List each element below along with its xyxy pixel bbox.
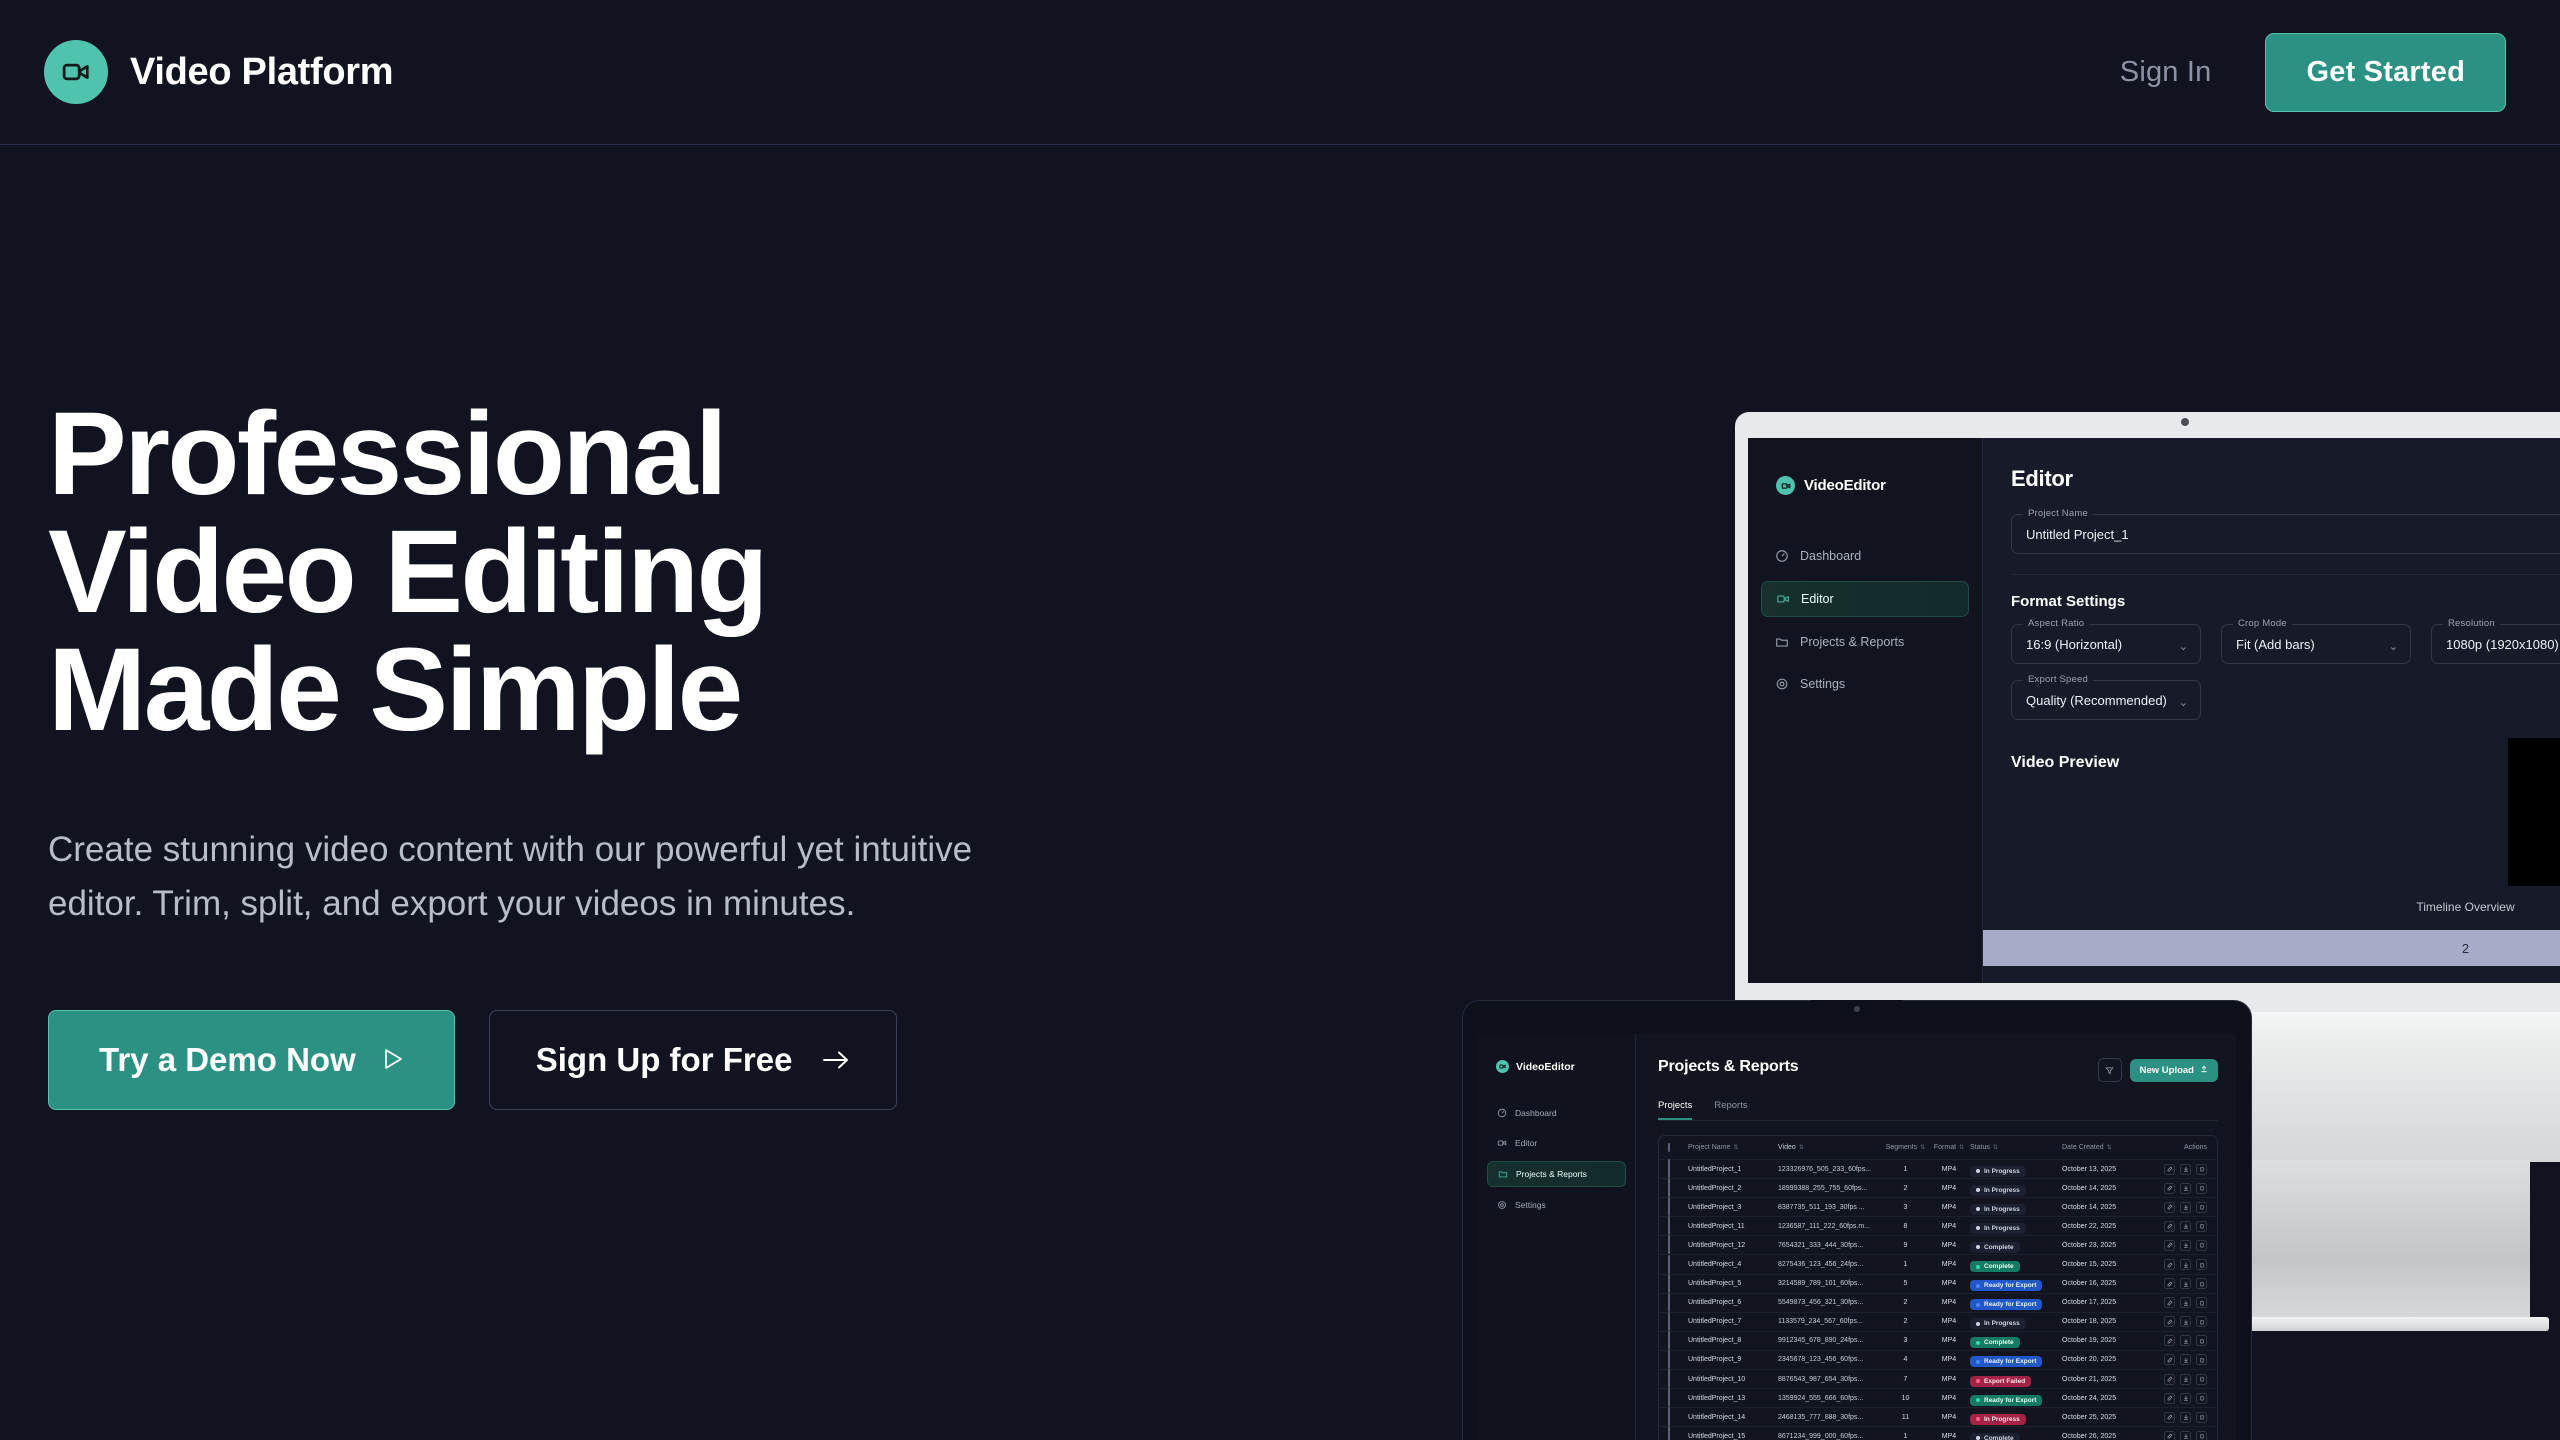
video-camera-icon [1776, 592, 1790, 606]
gear-icon [1775, 677, 1789, 691]
cell-format: MP4 [1928, 1166, 1970, 1173]
cell-segments: 2 [1883, 1299, 1928, 1306]
aspect-ratio-label: Aspect Ratio [2023, 618, 2089, 629]
cell-actions [2147, 1412, 2207, 1423]
cell-project-name: UntitledProject_3 [1688, 1204, 1778, 1211]
cell-actions [2147, 1297, 2207, 1308]
cell-status: Export Failed [1970, 1370, 2062, 1388]
status-badge: In Progress [1970, 1204, 2026, 1215]
resolution-select[interactable]: Resolution 1080p (1920x1080) ⌄ [2431, 624, 2560, 664]
delete-icon[interactable] [2196, 1335, 2207, 1346]
sign-in-link[interactable]: Sign In [2120, 56, 2212, 89]
delete-icon[interactable] [2196, 1183, 2207, 1194]
cell-segments: 9 [1883, 1242, 1928, 1249]
cell-segments: 11 [1883, 1414, 1928, 1421]
edit-icon[interactable] [2164, 1354, 2175, 1365]
cell-date-created: October 26, 2025 [2062, 1433, 2147, 1440]
select-all-checkbox[interactable] [1668, 1144, 1688, 1151]
cell-status: In Progress [1970, 1217, 2062, 1235]
cell-project-name: UntitledProject_10 [1688, 1376, 1778, 1383]
cell-segments: 3 [1883, 1204, 1928, 1211]
cell-project-name: UntitledProject_13 [1688, 1395, 1778, 1402]
status-badge: In Progress [1970, 1414, 2026, 1425]
crop-mode-label: Crop Mode [2233, 618, 2292, 629]
status-badge: Export Failed [1970, 1376, 2031, 1387]
sidebar-item-dashboard[interactable]: Dashboard [1761, 539, 1969, 573]
sort-icon: ⇅ [1799, 1144, 1804, 1151]
hero-subtitle-line-1: Create stunning video content with our p… [48, 823, 1108, 877]
laptop-camera-icon [1854, 1006, 1860, 1012]
editor-topbar: Editor Save Exp [1983, 438, 2560, 492]
cell-video: 2468135_777_888_30fps... [1778, 1414, 1883, 1421]
cell-format: MP4 [1928, 1376, 1970, 1383]
cell-video: 2345678_123_456_60fps... [1778, 1356, 1883, 1363]
row-checkbox[interactable] [1668, 1408, 1688, 1426]
edit-icon[interactable] [2164, 1316, 2175, 1327]
delete-icon[interactable] [2196, 1202, 2207, 1213]
edit-icon[interactable] [2164, 1259, 2175, 1270]
desktop-monitor-mockup: VideoEditor Dashboard Editor Projects & … [1735, 412, 2560, 1012]
site-header: Video Platform Sign In Get Started [0, 0, 2560, 145]
chevron-down-icon: ⌄ [2389, 640, 2398, 653]
video-camera-icon [1776, 476, 1795, 495]
cell-date-created: October 24, 2025 [2062, 1395, 2147, 1402]
row-checkbox[interactable] [1668, 1294, 1688, 1312]
status-badge: In Progress [1970, 1318, 2026, 1329]
hero-title-line-2: Video Editing [48, 513, 1108, 631]
cell-date-created: October 21, 2025 [2062, 1376, 2147, 1383]
cell-segments: 2 [1883, 1318, 1928, 1325]
row-checkbox[interactable] [1668, 1217, 1688, 1235]
status-badge: In Progress [1970, 1223, 2026, 1234]
laptop-header-actions: New Upload [2098, 1058, 2218, 1082]
gauge-icon [1497, 1108, 1507, 1118]
hero-title-line-3: Made Simple [48, 631, 1108, 749]
new-upload-label: New Upload [2140, 1065, 2194, 1076]
download-icon[interactable] [2180, 1202, 2191, 1213]
chevron-down-icon: ⌄ [2179, 640, 2188, 653]
hero-cta-row: Try a Demo Now Sign Up for Free [48, 1010, 1108, 1110]
folder-icon [1775, 635, 1789, 649]
funnel-icon[interactable] [2098, 1058, 2122, 1082]
aspect-ratio-value: 16:9 (Horizontal) [2026, 637, 2122, 652]
cell-date-created: October 19, 2025 [2062, 1337, 2147, 1344]
edit-icon[interactable] [2164, 1374, 2175, 1385]
download-icon[interactable] [2180, 1354, 2191, 1365]
sidebar-item-label: Projects & Reports [1800, 635, 1904, 649]
cell-date-created: October 13, 2025 [2062, 1166, 2147, 1173]
cell-project-name: UntitledProject_4 [1688, 1261, 1778, 1268]
row-checkbox[interactable] [1668, 1351, 1688, 1369]
cell-status: In Progress [1970, 1160, 2062, 1178]
sidebar-item-label: Dashboard [1800, 549, 1861, 563]
laptop-nav: Dashboard Editor Projects & Reports Sett… [1478, 1101, 1635, 1217]
delete-icon[interactable] [2196, 1240, 2207, 1251]
table-row[interactable]: UntitledProject_53214589_789_101_60fps..… [1659, 1275, 2217, 1294]
editor-page-title: Editor [2011, 466, 2073, 492]
cell-project-name: UntitledProject_5 [1688, 1280, 1778, 1287]
cell-segments: 7 [1883, 1376, 1928, 1383]
row-checkbox[interactable] [1668, 1160, 1688, 1178]
cell-date-created: October 23, 2025 [2062, 1242, 2147, 1249]
status-badge: Complete [1970, 1242, 2020, 1253]
cell-segments: 10 [1883, 1395, 1928, 1402]
crop-mode-select[interactable]: Crop Mode Fit (Add bars) ⌄ [2221, 624, 2411, 664]
arrow-right-icon [822, 1041, 850, 1079]
sidebar-item-label: Dashboard [1515, 1108, 1557, 1118]
sidebar-item-label: Settings [1800, 677, 1845, 691]
sidebar-item-label: Editor [1801, 592, 1834, 606]
cell-date-created: October 22, 2025 [2062, 1223, 2147, 1230]
crop-mode-value: Fit (Add bars) [2236, 637, 2315, 652]
cell-actions [2147, 1335, 2207, 1346]
table-row[interactable]: UntitledProject_108876543_987_654_30fps.… [1659, 1370, 2217, 1389]
format-settings-title: Format Settings [2011, 593, 2560, 610]
sign-up-free-button[interactable]: Sign Up for Free [489, 1010, 898, 1110]
format-settings-row-1: Aspect Ratio 16:9 (Horizontal) ⌄ Crop Mo… [2011, 624, 2560, 664]
download-icon[interactable] [2180, 1278, 2191, 1289]
column-header-project-name[interactable]: Project Name⇅ [1688, 1144, 1778, 1151]
hero-subtitle-line-2: editor. Trim, split, and export your vid… [48, 877, 1108, 931]
row-checkbox[interactable] [1668, 1275, 1688, 1293]
table-row[interactable]: UntitledProject_158671234_999_000_60fps.… [1659, 1427, 2217, 1440]
download-icon[interactable] [2180, 1412, 2191, 1423]
tab-projects[interactable]: Projects [1658, 1100, 1692, 1120]
cell-format: MP4 [1928, 1280, 1970, 1287]
play-triangle-icon [382, 1041, 404, 1079]
cell-status: Ready for Export [1970, 1389, 2062, 1407]
edit-icon[interactable] [2164, 1202, 2175, 1213]
edit-icon[interactable] [2164, 1278, 2175, 1289]
sign-up-free-label: Sign Up for Free [536, 1041, 793, 1079]
table-row[interactable]: UntitledProject_38387735_511_193_30fps .… [1659, 1198, 2217, 1217]
cell-format: MP4 [1928, 1356, 1970, 1363]
export-speed-select[interactable]: Export Speed Quality (Recommended) ⌄ [2011, 680, 2201, 720]
delete-icon[interactable] [2196, 1393, 2207, 1404]
cell-status: Complete [1970, 1332, 2062, 1350]
cell-actions [2147, 1431, 2207, 1440]
column-header-format[interactable]: Format⇅ [1928, 1144, 1970, 1151]
editor-brand-name: VideoEditor [1804, 477, 1886, 494]
upload-icon [2200, 1065, 2208, 1076]
video-camera-icon [1496, 1060, 1509, 1073]
edit-icon[interactable] [2164, 1221, 2175, 1232]
delete-icon[interactable] [2196, 1278, 2207, 1289]
column-header-status[interactable]: Status⇅ [1970, 1144, 2062, 1151]
cell-format: MP4 [1928, 1185, 1970, 1192]
edit-icon[interactable] [2164, 1297, 2175, 1308]
resolution-label: Resolution [2443, 618, 2500, 629]
sort-icon: ⇅ [2107, 1144, 2112, 1151]
gauge-icon [1775, 549, 1789, 563]
timeline-bar[interactable]: 2 [1983, 930, 2560, 966]
column-header-date-created[interactable]: Date Created⇅ [2062, 1144, 2147, 1151]
cell-actions [2147, 1183, 2207, 1194]
status-badge: Complete [1970, 1433, 2020, 1440]
row-checkbox[interactable] [1668, 1256, 1688, 1274]
project-name-label: Project Name [2023, 508, 2093, 519]
table-row[interactable]: UntitledProject_89912345_678_890_24fps..… [1659, 1332, 2217, 1351]
cell-video: 3214589_789_101_60fps... [1778, 1280, 1883, 1287]
cell-video: 8671234_999_000_60fps... [1778, 1433, 1883, 1440]
monitor-screen: VideoEditor Dashboard Editor Projects & … [1748, 438, 2560, 983]
divider [2011, 574, 2560, 575]
aspect-ratio-select[interactable]: Aspect Ratio 16:9 (Horizontal) ⌄ [2011, 624, 2201, 664]
cell-segments: 3 [1883, 1337, 1928, 1344]
cell-segments: 2 [1883, 1185, 1928, 1192]
video-preview-title: Video Preview [2011, 754, 2119, 772]
table-row[interactable]: UntitledProject_142468135_777_888_30fps.… [1659, 1408, 2217, 1427]
cell-format: MP4 [1928, 1395, 1970, 1402]
delete-icon[interactable] [2196, 1221, 2207, 1232]
column-header-segments[interactable]: Segments⇅ [1883, 1144, 1928, 1151]
cell-format: MP4 [1928, 1223, 1970, 1230]
status-badge: Complete [1970, 1261, 2020, 1272]
edit-icon[interactable] [2164, 1164, 2175, 1175]
edit-icon[interactable] [2164, 1393, 2175, 1404]
delete-icon[interactable] [2196, 1259, 2207, 1270]
editor-nav: Dashboard Editor Projects & Reports Sett… [1748, 539, 1982, 701]
download-icon[interactable] [2180, 1431, 2191, 1440]
delete-icon[interactable] [2196, 1164, 2207, 1175]
cell-actions [2147, 1259, 2207, 1270]
table-row[interactable]: UntitledProject_92345678_123_456_60fps..… [1659, 1351, 2217, 1370]
table-row[interactable]: UntitledProject_1123326976_505_233_60fps… [1659, 1160, 2217, 1179]
sidebar-item-label: Projects & Reports [1516, 1169, 1587, 1179]
cell-status: Complete [1970, 1236, 2062, 1254]
edit-icon[interactable] [2164, 1335, 2175, 1346]
tab-reports[interactable]: Reports [1714, 1100, 1747, 1120]
cell-video: 8876543_987_654_30fps... [1778, 1376, 1883, 1383]
row-checkbox[interactable] [1668, 1332, 1688, 1350]
laptop-tabs: Projects Reports [1658, 1100, 2218, 1121]
try-demo-label: Try a Demo Now [99, 1041, 356, 1079]
cell-status: Complete [1970, 1256, 2062, 1274]
table-row[interactable]: UntitledProject_218999388_255_755_60fps.… [1659, 1179, 2217, 1198]
export-speed-label: Export Speed [2023, 674, 2093, 685]
status-badge: Ready for Export [1970, 1299, 2042, 1310]
get-started-button[interactable]: Get Started [2265, 33, 2506, 112]
cell-project-name: UntitledProject_15 [1688, 1433, 1778, 1440]
gear-icon [1497, 1200, 1507, 1210]
cell-actions [2147, 1240, 2207, 1251]
laptop-page-title: Projects & Reports [1658, 1058, 1798, 1076]
cell-format: MP4 [1928, 1414, 1970, 1421]
cell-video: 8275436_123_456_24fps... [1778, 1261, 1883, 1268]
cell-actions [2147, 1374, 2207, 1385]
cell-date-created: October 14, 2025 [2062, 1204, 2147, 1211]
delete-icon[interactable] [2196, 1374, 2207, 1385]
delete-icon[interactable] [2196, 1316, 2207, 1327]
cell-date-created: October 16, 2025 [2062, 1280, 2147, 1287]
sidebar-item-settings[interactable]: Settings [1761, 667, 1969, 701]
delete-icon[interactable] [2196, 1297, 2207, 1308]
format-settings-row-2: Export Speed Quality (Recommended) ⌄ [2011, 680, 2560, 720]
sort-icon: ⇅ [1920, 1144, 1925, 1151]
cell-actions [2147, 1278, 2207, 1289]
laptop-mockup: VideoEditor Dashboard Editor Projects & … [1462, 1000, 2252, 1440]
sidebar-item-label: Settings [1515, 1200, 1546, 1210]
download-icon[interactable] [2180, 1335, 2191, 1346]
edit-icon[interactable] [2164, 1412, 2175, 1423]
folder-icon [1498, 1169, 1508, 1179]
cell-status: Ready for Export [1970, 1351, 2062, 1369]
laptop-screen: VideoEditor Dashboard Editor Projects & … [1478, 1034, 2236, 1440]
cell-video: 18999388_255_755_60fps... [1778, 1185, 1883, 1192]
sort-icon: ⇅ [1993, 1144, 1998, 1151]
cell-segments: 4 [1883, 1356, 1928, 1363]
try-demo-button[interactable]: Try a Demo Now [48, 1010, 455, 1110]
cell-actions [2147, 1221, 2207, 1232]
video-preview-header: Video Preview Video player size [2011, 754, 2560, 772]
status-badge: Ready for Export [1970, 1356, 2042, 1367]
cell-status: In Progress [1970, 1198, 2062, 1216]
cell-video: 123326976_505_233_60fps... [1778, 1166, 1883, 1173]
cell-project-name: UntitledProject_6 [1688, 1299, 1778, 1306]
sidebar-item-label: Editor [1515, 1138, 1537, 1148]
status-badge: In Progress [1970, 1166, 2026, 1177]
project-name-field[interactable]: Project Name Untitled Project_1 [2011, 514, 2560, 554]
edit-icon[interactable] [2164, 1240, 2175, 1251]
cell-video: 1133579_234_567_60fps... [1778, 1318, 1883, 1325]
cell-segments: 1 [1883, 1433, 1928, 1440]
table-row[interactable]: UntitledProject_111236587_111_222_60fps.… [1659, 1217, 2217, 1236]
cell-date-created: October 14, 2025 [2062, 1185, 2147, 1192]
cell-project-name: UntitledProject_8 [1688, 1337, 1778, 1344]
table-row[interactable]: UntitledProject_71133579_234_567_60fps..… [1659, 1313, 2217, 1332]
laptop-header: Projects & Reports New Upload [1658, 1058, 2218, 1082]
video-preview-player[interactable] [2508, 738, 2560, 886]
device-mockups: VideoEditor Dashboard Editor Projects & … [1350, 380, 2560, 1280]
resolution-value: 1080p (1920x1080) [2446, 637, 2559, 652]
status-badge: In Progress [1970, 1185, 2026, 1196]
status-badge: Complete [1970, 1337, 2020, 1348]
column-header-video[interactable]: Video⇅ [1778, 1144, 1883, 1151]
download-icon[interactable] [2180, 1297, 2191, 1308]
cell-video: 1359924_555_666_60fps... [1778, 1395, 1883, 1402]
sidebar-item-projects-reports[interactable]: Projects & Reports [1487, 1161, 1626, 1187]
video-camera-icon [1497, 1138, 1507, 1148]
table-row[interactable]: UntitledProject_48275436_123_456_24fps..… [1659, 1255, 2217, 1274]
cell-video: 1236587_111_222_60fps.m... [1778, 1223, 1883, 1230]
laptop-main: Projects & Reports New Upload Projects R… [1636, 1034, 2236, 1440]
brand-logo[interactable]: Video Platform [44, 40, 393, 104]
cell-format: MP4 [1928, 1299, 1970, 1306]
sidebar-item-editor[interactable]: Editor [1487, 1131, 1626, 1155]
row-checkbox[interactable] [1668, 1198, 1688, 1216]
edit-icon[interactable] [2164, 1183, 2175, 1194]
cell-format: MP4 [1928, 1337, 1970, 1344]
sort-icon: ⇅ [1733, 1144, 1738, 1151]
header-actions: Sign In Get Started [2120, 33, 2524, 112]
sidebar-item-settings[interactable]: Settings [1487, 1193, 1626, 1217]
new-upload-button[interactable]: New Upload [2130, 1059, 2218, 1082]
editor-sidebar: VideoEditor Dashboard Editor Projects & … [1748, 438, 1983, 983]
editor-main: Editor Save Exp Project Name Untitled Pr… [1983, 438, 2560, 983]
sidebar-item-editor[interactable]: Editor [1761, 581, 1969, 617]
row-checkbox[interactable] [1668, 1313, 1688, 1331]
sidebar-item-projects-reports[interactable]: Projects & Reports [1761, 625, 1969, 659]
video-camera-icon [44, 40, 108, 104]
cell-segments: 5 [1883, 1280, 1928, 1287]
cell-date-created: October 18, 2025 [2062, 1318, 2147, 1325]
table-row[interactable]: UntitledProject_65549873_456_321_30fps..… [1659, 1294, 2217, 1313]
edit-icon[interactable] [2164, 1431, 2175, 1440]
row-checkbox[interactable] [1668, 1389, 1688, 1407]
editor-brand: VideoEditor [1748, 438, 1982, 495]
cell-video: 8387735_511_193_30fps ... [1778, 1204, 1883, 1211]
cell-actions [2147, 1164, 2207, 1175]
cell-status: In Progress [1970, 1179, 2062, 1197]
laptop-sidebar: VideoEditor Dashboard Editor Projects & … [1478, 1034, 1636, 1440]
table-row[interactable]: UntitledProject_131359924_555_666_60fps.… [1659, 1389, 2217, 1408]
download-icon[interactable] [2180, 1221, 2191, 1232]
delete-icon[interactable] [2196, 1354, 2207, 1365]
cell-format: MP4 [1928, 1261, 1970, 1268]
cell-actions [2147, 1316, 2207, 1327]
download-icon[interactable] [2180, 1374, 2191, 1385]
cell-segments: 1 [1883, 1166, 1928, 1173]
download-icon[interactable] [2180, 1240, 2191, 1251]
cell-segments: 8 [1883, 1223, 1928, 1230]
page-title: Professional Video Editing Made Simple [48, 395, 1108, 749]
hero-title-line-1: Professional [48, 395, 1108, 513]
brand-name: Video Platform [130, 51, 393, 94]
row-checkbox[interactable] [1668, 1236, 1688, 1254]
cell-date-created: October 25, 2025 [2062, 1414, 2147, 1421]
cell-status: In Progress [1970, 1313, 2062, 1331]
row-checkbox[interactable] [1668, 1427, 1688, 1440]
status-badge: Ready for Export [1970, 1395, 2042, 1406]
cell-actions [2147, 1393, 2207, 1404]
cell-project-name: UntitledProject_1 [1688, 1166, 1778, 1173]
row-checkbox[interactable] [1668, 1179, 1688, 1197]
cell-project-name: UntitledProject_9 [1688, 1356, 1778, 1363]
sidebar-item-dashboard[interactable]: Dashboard [1487, 1101, 1626, 1125]
download-icon[interactable] [2180, 1259, 2191, 1270]
cell-video: 7654321_333_444_30fps... [1778, 1242, 1883, 1249]
cell-status: In Progress [1970, 1408, 2062, 1426]
cell-project-name: UntitledProject_11 [1688, 1223, 1778, 1230]
cell-date-created: October 15, 2025 [2062, 1261, 2147, 1268]
download-icon[interactable] [2180, 1164, 2191, 1175]
cell-format: MP4 [1928, 1318, 1970, 1325]
column-header-actions: Actions [2147, 1144, 2207, 1151]
row-checkbox[interactable] [1668, 1370, 1688, 1388]
delete-icon[interactable] [2196, 1412, 2207, 1423]
cell-date-created: October 17, 2025 [2062, 1299, 2147, 1306]
delete-icon[interactable] [2196, 1431, 2207, 1440]
sort-icon: ⇅ [1959, 1144, 1964, 1151]
laptop-brand: VideoEditor [1478, 1034, 1635, 1073]
cell-project-name: UntitledProject_12 [1688, 1242, 1778, 1249]
cell-video: 5549873_456_321_30fps... [1778, 1299, 1883, 1306]
cell-video: 9912345_678_890_24fps... [1778, 1337, 1883, 1344]
hero-subtitle: Create stunning video content with our p… [48, 823, 1108, 932]
status-badge: Ready for Export [1970, 1280, 2042, 1291]
download-icon[interactable] [2180, 1316, 2191, 1327]
table-body: UntitledProject_1123326976_505_233_60fps… [1659, 1160, 2217, 1440]
projects-table: Project Name⇅ Video⇅ Segments⇅ Format⇅ S… [1658, 1135, 2218, 1440]
table-row[interactable]: UntitledProject_127654321_333_444_30fps.… [1659, 1236, 2217, 1255]
export-speed-value: Quality (Recommended) [2026, 693, 2167, 708]
laptop-brand-name: VideoEditor [1516, 1061, 1575, 1073]
download-icon[interactable] [2180, 1393, 2191, 1404]
project-name-value: Untitled Project_1 [2026, 527, 2129, 542]
download-icon[interactable] [2180, 1183, 2191, 1194]
cell-format: MP4 [1928, 1204, 1970, 1211]
hero-section: Professional Video Editing Made Simple C… [48, 395, 1108, 1110]
